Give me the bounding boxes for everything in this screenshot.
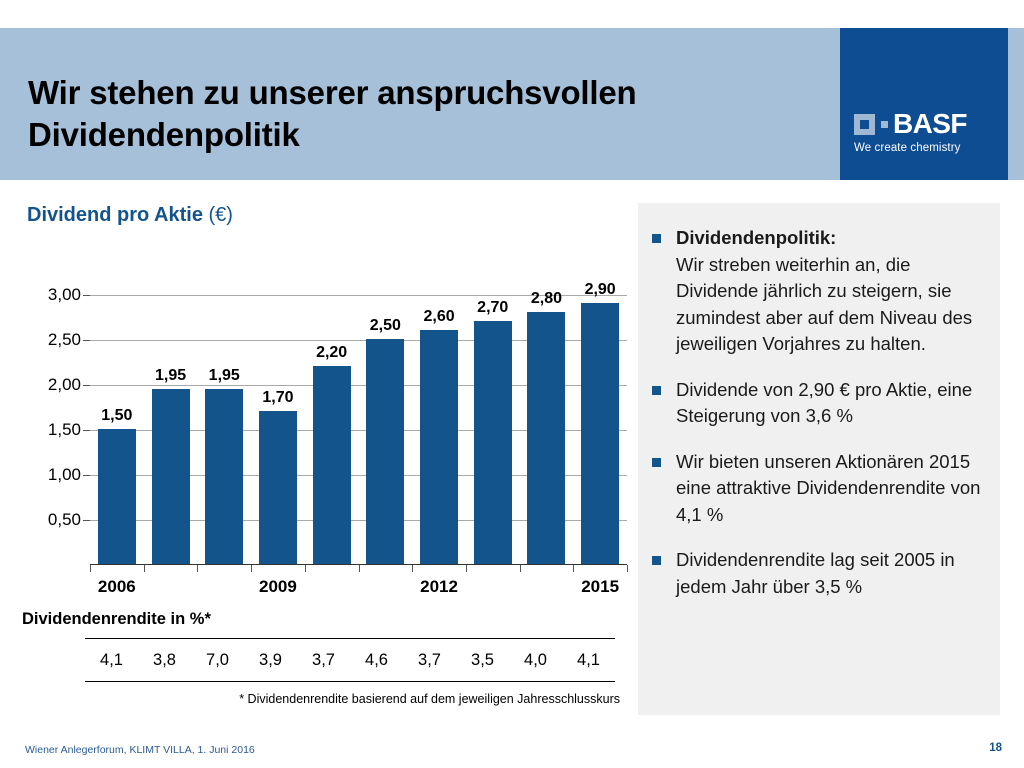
yield-cell: 4,6	[350, 651, 403, 670]
basf-square-inner-icon	[860, 120, 869, 129]
yield-cell: 3,7	[403, 651, 456, 670]
bar[interactable]	[259, 411, 297, 564]
bullet-text: Dividendenrendite lag seit 2005 in jedem…	[676, 547, 982, 600]
bar-value-label: 2,60	[410, 308, 468, 326]
chart-title-unit: (€)	[209, 204, 233, 226]
bar-value-label: 2,90	[571, 281, 629, 299]
bullet-item: Dividendenpolitik:Wir streben weiterhin …	[652, 225, 982, 358]
bar-value-label: 1,95	[142, 367, 200, 385]
bar[interactable]	[420, 330, 458, 564]
bullet-square-icon	[652, 458, 661, 467]
bullet-square-icon	[652, 556, 661, 565]
bar-value-label: 2,20	[303, 344, 361, 362]
bar-value-label: 2,80	[517, 290, 575, 308]
bar[interactable]	[366, 339, 404, 564]
x-axis-tick	[305, 565, 306, 572]
chart-title: Dividend pro Aktie (€)	[27, 204, 233, 227]
bar[interactable]	[205, 389, 243, 565]
bar[interactable]	[581, 303, 619, 564]
footer-source: Wiener Anlegerforum, KLIMT VILLA, 1. Jun…	[25, 744, 255, 756]
x-axis-label-2012: 2012	[404, 577, 474, 597]
page-title-line-2: Dividendenpolitik	[28, 114, 818, 156]
y-axis-tick	[83, 295, 90, 296]
plot-area	[90, 295, 627, 565]
x-axis-label-2006: 2006	[82, 577, 152, 597]
y-axis-tick	[83, 385, 90, 386]
bar-value-label: 2,70	[464, 299, 522, 317]
y-axis-tick-label: 2,00	[27, 375, 81, 395]
yield-cell: 4,1	[85, 651, 138, 670]
yield-cell: 7,0	[191, 651, 244, 670]
basf-logo: BASF We create chemistry	[840, 28, 1008, 180]
chart-title-main: Dividend pro Aktie	[27, 204, 203, 226]
basf-dot-icon	[881, 121, 888, 128]
basf-logo-mark-row: BASF	[854, 111, 1000, 137]
yield-cell: 3,7	[297, 651, 350, 670]
bullet-lead: Dividendenpolitik:	[676, 225, 982, 252]
y-axis-tick	[83, 520, 90, 521]
x-axis-line	[90, 564, 627, 566]
yield-cell: 3,9	[244, 651, 297, 670]
bar[interactable]	[527, 312, 565, 564]
bar[interactable]	[152, 389, 190, 565]
y-axis-tick-label: 1,00	[27, 465, 81, 485]
y-axis-tick	[83, 475, 90, 476]
bullet-list: Dividendenpolitik:Wir streben weiterhin …	[638, 203, 1000, 600]
y-axis-tick	[83, 340, 90, 341]
y-axis-tick-label: 3,00	[27, 285, 81, 305]
bullet-item: Dividende von 2,90 € pro Aktie, eine Ste…	[652, 377, 982, 430]
key-messages-panel: Dividendenpolitik:Wir streben weiterhin …	[638, 203, 1000, 715]
bar[interactable]	[98, 429, 136, 564]
x-axis-tick	[520, 565, 521, 572]
bullet-body: Wir streben weiterhin an, die Dividende …	[676, 254, 972, 355]
x-axis-tick	[197, 565, 198, 572]
x-axis-label-2009: 2009	[243, 577, 313, 597]
x-axis-tick	[412, 565, 413, 572]
y-axis-tick-label: 2,50	[27, 330, 81, 350]
yield-table-heading: Dividendenrendite in %*	[22, 610, 211, 629]
bar[interactable]	[313, 366, 351, 564]
bar-value-label: 1,50	[88, 407, 146, 425]
yield-cell: 4,0	[509, 651, 562, 670]
basf-square-icon	[854, 114, 875, 135]
dividend-bar-chart: 0,501,001,502,002,503,00 1,501,951,951,7…	[27, 295, 627, 580]
page-title: Wir stehen zu unserer anspruchsvollen Di…	[28, 72, 818, 156]
yield-table-row: 4,13,87,03,93,74,63,73,54,04,1	[85, 639, 615, 681]
x-axis-tick	[90, 565, 91, 572]
x-axis-tick	[573, 565, 574, 572]
bullet-text: Dividende von 2,90 € pro Aktie, eine Ste…	[676, 377, 982, 430]
x-axis-tick	[359, 565, 360, 572]
bullet-text: Wir bieten unseren Aktionären 2015 eine …	[676, 449, 982, 529]
yield-cell: 3,5	[456, 651, 509, 670]
bullet-body: Wir bieten unseren Aktionären 2015 eine …	[676, 451, 980, 525]
yield-cell: 4,1	[562, 651, 615, 670]
x-axis-tick	[144, 565, 145, 572]
bullet-item: Wir bieten unseren Aktionären 2015 eine …	[652, 449, 982, 529]
bar[interactable]	[474, 321, 512, 564]
bar-value-label: 1,95	[195, 367, 253, 385]
bar-value-label: 1,70	[249, 389, 307, 407]
yield-cell: 3,8	[138, 651, 191, 670]
page-title-line-1: Wir stehen zu unserer anspruchsvollen	[28, 72, 818, 114]
bullet-text: Dividendenpolitik:Wir streben weiterhin …	[676, 225, 982, 358]
y-axis-tick-label: 0,50	[27, 510, 81, 530]
slide-root: Wir stehen zu unserer anspruchsvollen Di…	[0, 0, 1024, 768]
y-axis-tick-label: 1,50	[27, 420, 81, 440]
yield-table: 4,13,87,03,93,74,63,73,54,04,1	[85, 638, 615, 682]
bullet-square-icon	[652, 386, 661, 395]
basf-logo-inner: BASF We create chemistry	[854, 111, 1000, 154]
page-number: 18	[989, 742, 1002, 754]
bullet-square-icon	[652, 234, 661, 243]
x-axis-tick	[251, 565, 252, 572]
x-axis-label-2015: 2015	[565, 577, 635, 597]
basf-wordmark: BASF	[893, 111, 967, 137]
bullet-body: Dividendenrendite lag seit 2005 in jedem…	[676, 549, 955, 597]
basf-tagline: We create chemistry	[854, 142, 1000, 154]
yield-table-footnote: * Dividendenrendite basierend auf dem je…	[180, 692, 620, 706]
bullet-item: Dividendenrendite lag seit 2005 in jedem…	[652, 547, 982, 600]
y-axis-tick	[83, 430, 90, 431]
bullet-body: Dividende von 2,90 € pro Aktie, eine Ste…	[676, 379, 972, 427]
x-axis-tick	[466, 565, 467, 572]
x-axis-tick	[627, 565, 628, 572]
bar-value-label: 2,50	[356, 317, 414, 335]
